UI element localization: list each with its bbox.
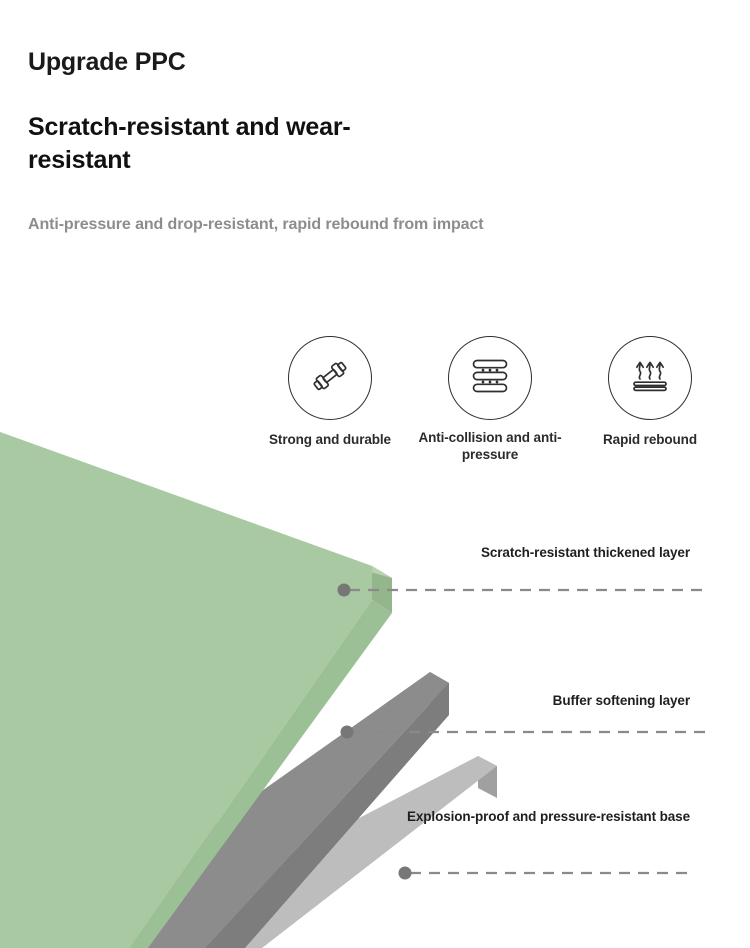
layer-callout-label-middle: Buffer softening layer	[390, 692, 690, 710]
leader-line-top-layer	[338, 584, 707, 597]
leader-marker-dot	[341, 726, 354, 739]
leader-line-bottom-layer	[399, 867, 695, 880]
layer-callout-label-bottom: Explosion-proof and pressure-resistant b…	[390, 808, 690, 826]
leader-marker-dot	[399, 867, 412, 880]
eyebrow-title: Upgrade PPC	[28, 48, 668, 77]
stacked-layers-icon	[464, 350, 516, 407]
page-subtitle: Anti-pressure and drop-resistant, rapid …	[28, 215, 668, 236]
dumbbell-icon	[304, 350, 356, 407]
rebound-arrows-icon	[624, 350, 676, 407]
layer-callout-label-top: Scratch-resistant thickened layer	[390, 544, 690, 562]
layer-stack-diagram	[0, 400, 750, 948]
product-infographic-page: Upgrade PPC Scratch-resistant and wear-r…	[0, 0, 750, 948]
page-title: Scratch-resistant and wear-resistant	[28, 111, 388, 177]
header-text-block: Upgrade PPC Scratch-resistant and wear-r…	[28, 48, 668, 236]
leader-marker-dot	[338, 584, 351, 597]
